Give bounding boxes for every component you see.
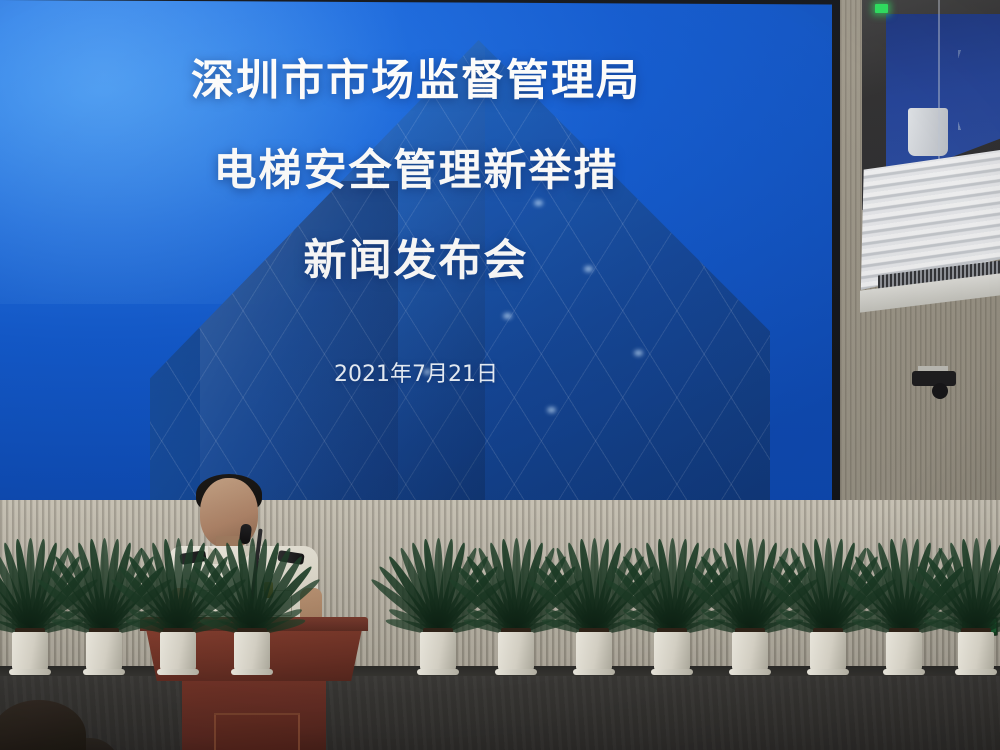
plant-pot [732, 632, 768, 672]
potted-plant [930, 512, 1000, 672]
plant-pot [886, 632, 922, 672]
photo-scene: 深圳市市场监督管理局 电梯安全管理新举措 新闻发布会 2021年7月21日 [0, 0, 1000, 750]
plant-pot [654, 632, 690, 672]
slide-text-block: 深圳市市场监督管理局 电梯安全管理新举措 新闻发布会 2021年7月21日 [0, 0, 832, 506]
plant-pot [234, 632, 270, 672]
window-mullion [938, 0, 940, 180]
plant-pot [576, 632, 612, 672]
plant-pot [12, 632, 48, 672]
camera-lens [932, 383, 948, 399]
plant-pot [160, 632, 196, 672]
plant-pot [86, 632, 122, 672]
slide-title-line-3: 新闻发布会 [0, 226, 832, 288]
podium-decorative-panel [214, 713, 300, 750]
plant-pot [810, 632, 846, 672]
reflected-foliage [958, 50, 1000, 130]
camera-body [912, 371, 956, 386]
security-camera-icon [912, 366, 956, 400]
plant-pot [958, 632, 994, 672]
slide-title-line-1: 深圳市市场监督管理局 [0, 46, 832, 108]
slide-title-line-2: 电梯安全管理新举措 [0, 136, 832, 198]
plant-pot [420, 632, 456, 672]
led-display-screen: 深圳市市场监督管理局 电梯安全管理新举措 新闻发布会 2021年7月21日 [0, 0, 832, 506]
slide-date: 2021年7月21日 [0, 356, 832, 388]
green-indicator-light-icon [875, 4, 888, 13]
reflected-planter [908, 108, 948, 156]
potted-plant [206, 512, 298, 672]
plant-pot [498, 632, 534, 672]
